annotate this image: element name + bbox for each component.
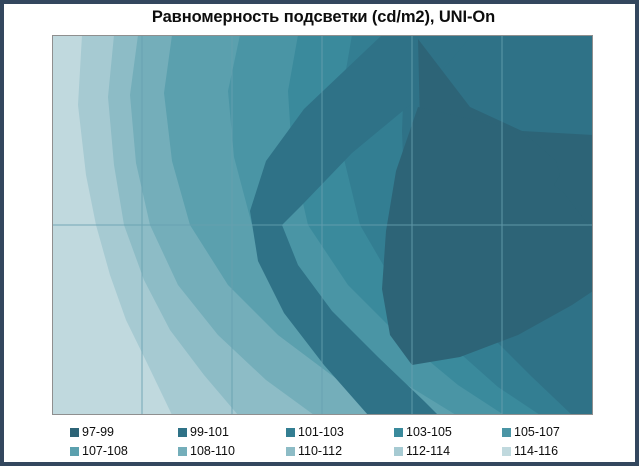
chart-title: Равномерность подсветки (cd/m2), UNI-On xyxy=(4,8,639,27)
legend-item-110-112[interactable]: 110-112 xyxy=(268,445,376,458)
legend-swatch-icon xyxy=(178,447,187,456)
legend-row: 107-108 108-110 110-112 112-114 114-116 xyxy=(52,442,593,461)
legend-item-101-103[interactable]: 101-103 xyxy=(268,426,376,439)
legend-item-103-105[interactable]: 103-105 xyxy=(376,426,484,439)
chart-frame: Равномерность подсветки (cd/m2), UNI-On xyxy=(0,0,639,466)
legend-swatch-icon xyxy=(394,447,403,456)
legend-swatch-icon xyxy=(70,428,79,437)
legend-item-112-114[interactable]: 112-114 xyxy=(376,445,484,458)
legend-item-label: 99-101 xyxy=(190,426,229,439)
legend-item-114-116[interactable]: 114-116 xyxy=(484,445,592,458)
legend-item-label: 110-112 xyxy=(298,445,342,458)
plot-gridlines xyxy=(52,35,593,415)
legend-item-97-99[interactable]: 97-99 xyxy=(52,426,160,439)
legend-swatch-icon xyxy=(394,428,403,437)
legend-item-label: 108-110 xyxy=(190,445,235,458)
gridline-group xyxy=(52,35,593,415)
legend-item-label: 97-99 xyxy=(82,426,114,439)
legend-item-label: 103-105 xyxy=(406,426,452,439)
legend-item-108-110[interactable]: 108-110 xyxy=(160,445,268,458)
legend: 97-99 99-101 101-103 103-105 105-107 xyxy=(52,423,593,461)
legend-item-107-108[interactable]: 107-108 xyxy=(52,445,160,458)
legend-swatch-icon xyxy=(502,428,511,437)
legend-item-label: 112-114 xyxy=(406,445,450,458)
legend-row: 97-99 99-101 101-103 103-105 105-107 xyxy=(52,423,593,442)
legend-swatch-icon xyxy=(70,447,79,456)
legend-item-99-101[interactable]: 99-101 xyxy=(160,426,268,439)
legend-item-label: 101-103 xyxy=(298,426,344,439)
legend-swatch-icon xyxy=(502,447,511,456)
plot-area xyxy=(52,35,593,415)
legend-swatch-icon xyxy=(178,428,187,437)
legend-item-label: 105-107 xyxy=(514,426,560,439)
legend-swatch-icon xyxy=(286,428,295,437)
legend-swatch-icon xyxy=(286,447,295,456)
legend-item-label: 114-116 xyxy=(514,445,558,458)
legend-item-label: 107-108 xyxy=(82,445,128,458)
legend-item-105-107[interactable]: 105-107 xyxy=(484,426,592,439)
